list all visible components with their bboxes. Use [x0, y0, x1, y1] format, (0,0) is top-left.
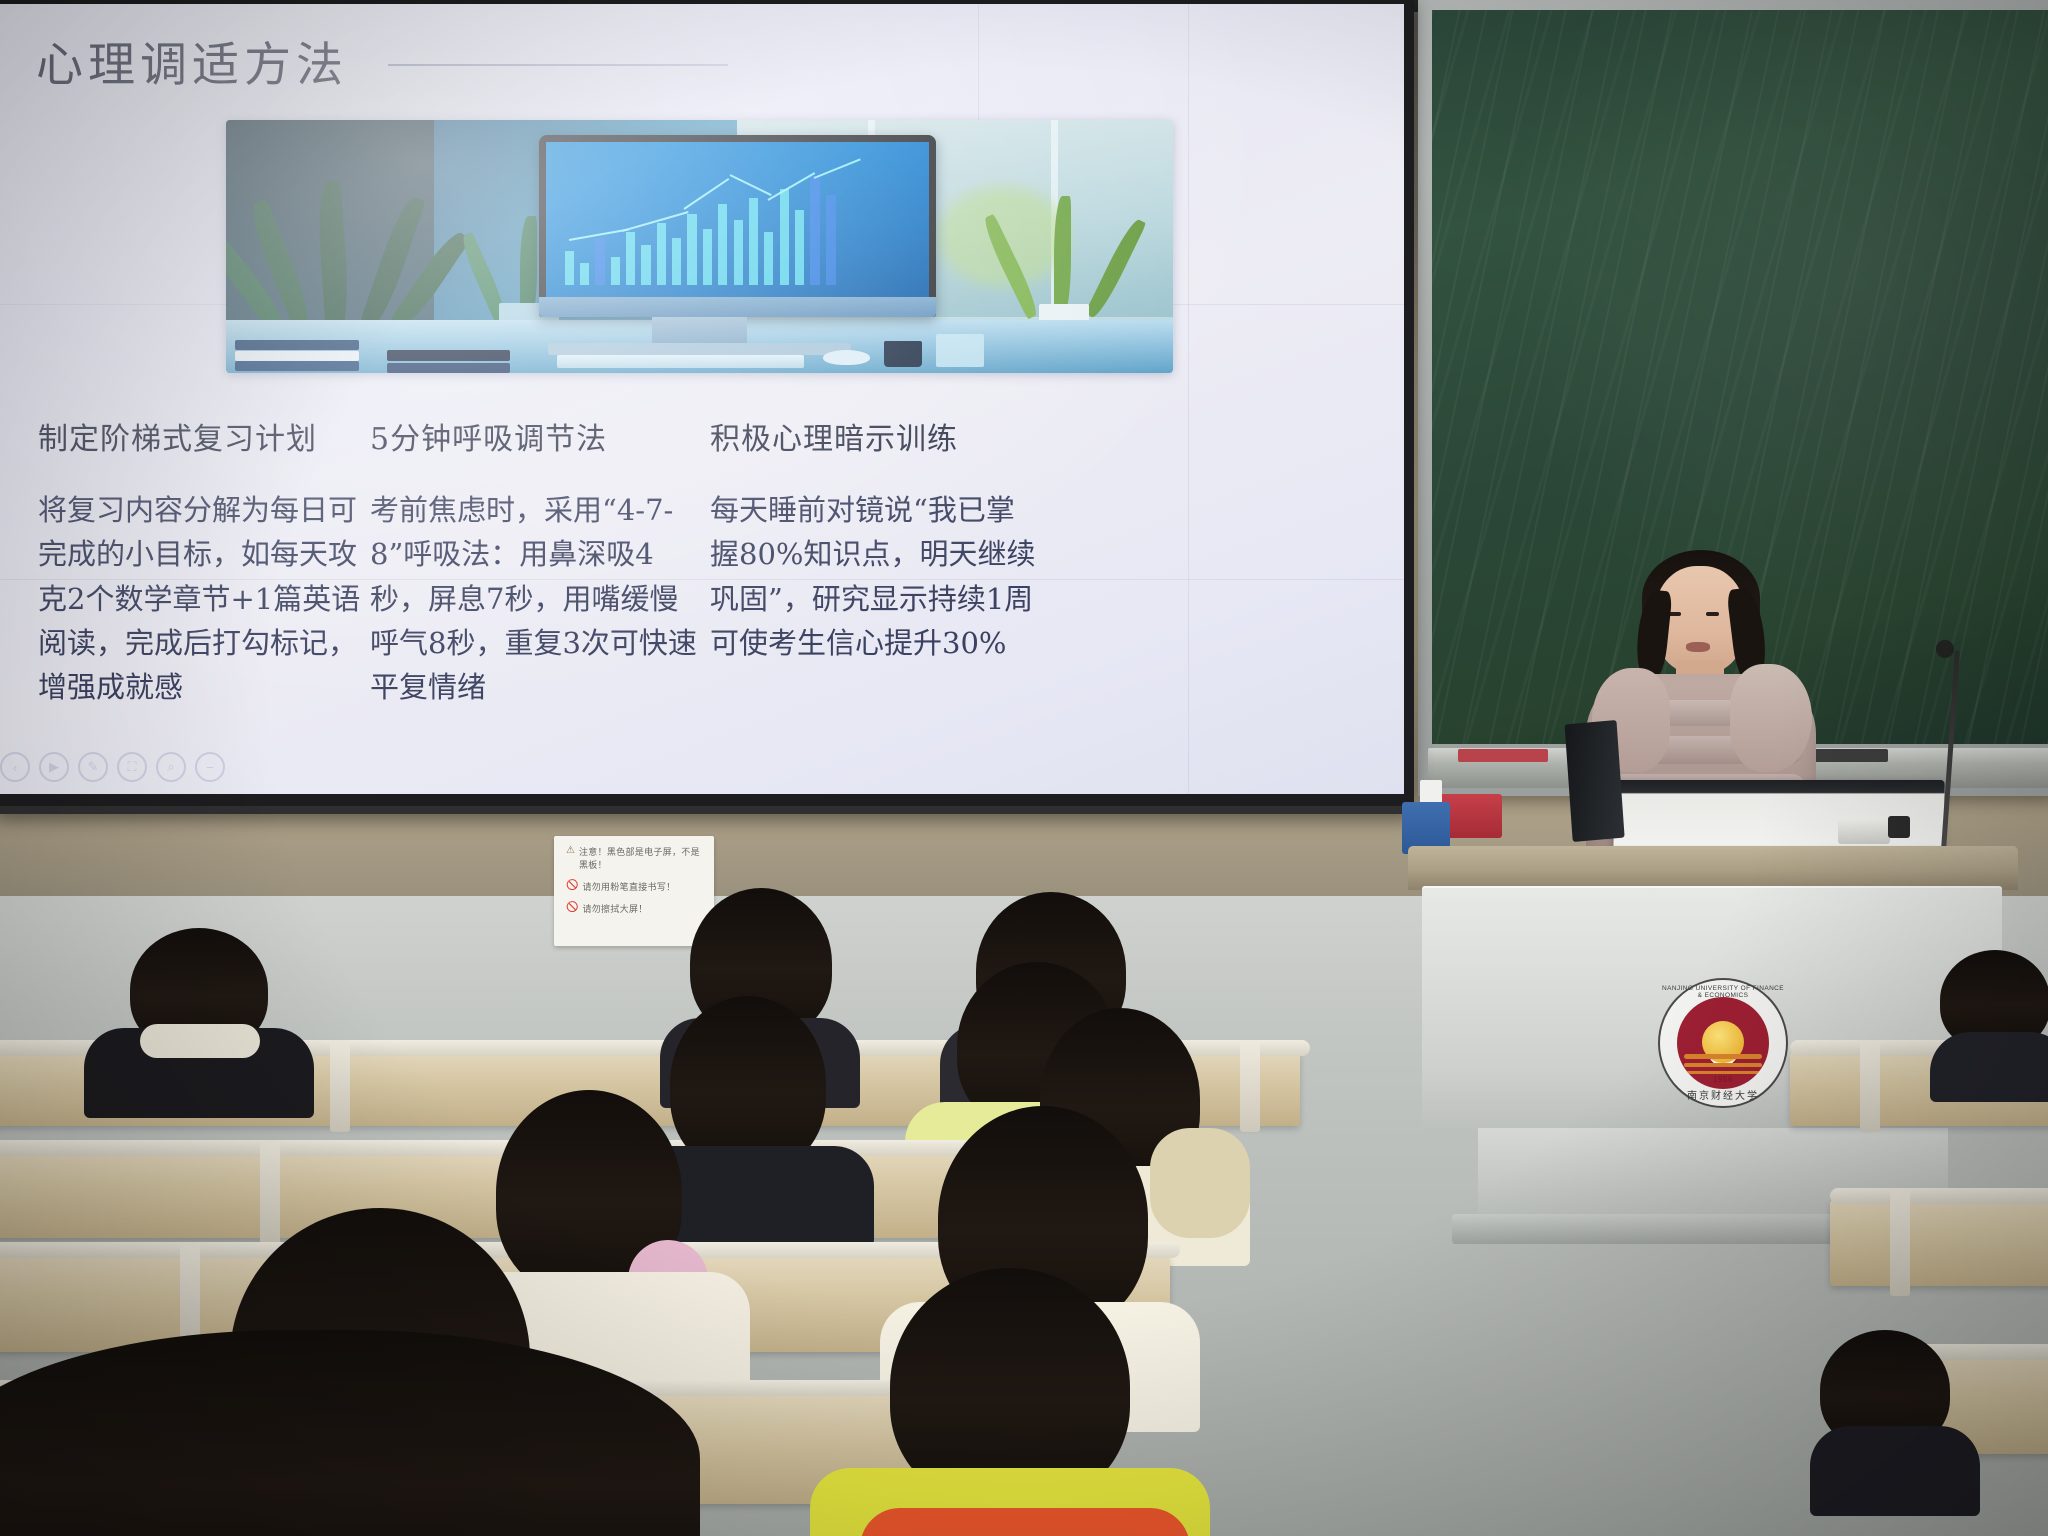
slide-column-3: 积极心理暗示训练 每天睡前对镜说“我已掌握80%知识点，明天继续巩固”，研究显示… [710, 414, 1040, 665]
photo-imac [539, 135, 937, 317]
slide-photo [226, 120, 1173, 373]
previous-icon[interactable]: ‹ [0, 752, 30, 782]
slide-toolbar[interactable]: ‹ ▶ ✎ ⛶ ⌕ − [0, 752, 225, 782]
photo-imac-screen [546, 142, 930, 297]
slide-column-1: 制定阶梯式复习计划 将复习内容分解为每日可完成的小目标，如每天攻克2个数学章节+… [38, 414, 368, 710]
prohibited-icon: 🚫 [566, 881, 578, 891]
chalk-red [1458, 749, 1548, 762]
zoom-icon[interactable]: ⌕ [156, 752, 186, 782]
photo-books [235, 340, 358, 370]
title-underline [388, 64, 728, 66]
bench-rail-right-2 [1830, 1188, 2048, 1204]
column-1-body: 将复习内容分解为每日可完成的小目标，如每天攻克2个数学章节+1篇英语阅读，完成后… [38, 488, 368, 710]
laptop [1613, 780, 1944, 850]
sign-line-1: ⚠ 注意！黑色部是电子屏，不是黑板！ [566, 846, 702, 872]
audience-person-right [1930, 950, 2048, 1080]
photo-mug [884, 341, 922, 366]
minimize-icon[interactable]: − [195, 752, 225, 782]
crest-ring-text-cn: 南京财经大学 [1660, 1087, 1786, 1102]
small-black-object [1888, 816, 1910, 838]
laptop-lid [1565, 720, 1625, 842]
photo-mouse [823, 350, 870, 365]
bench-post [1890, 1188, 1910, 1296]
presenter-hood-right [1730, 664, 1812, 772]
lectern-top [1408, 846, 2018, 890]
audience-person [830, 1268, 1190, 1536]
crest-year: 1956 [1677, 1075, 1769, 1084]
projection-screen-frame: 心理调适方法 [0, 0, 1414, 814]
slide-title: 心理调适方法 [36, 26, 348, 95]
photo-plant-right [1003, 196, 1126, 328]
bench-post [330, 1040, 350, 1132]
bench-post [1860, 1040, 1880, 1132]
column-2-body: 考前焦虑时，采用“4-7-8”呼吸法：用鼻深吸4秒，屏息7秒，用嘴缓慢呼气8秒，… [370, 488, 700, 710]
slide-column-2: 5分钟呼吸调节法 考前焦虑时，采用“4-7-8”呼吸法：用鼻深吸4秒，屏息7秒，… [370, 414, 700, 710]
photo-imac-chin [539, 297, 937, 317]
photo-books-2 [387, 350, 510, 373]
photo-imac-foot [548, 343, 851, 356]
sign-text-1: 注意！黑色部是电子屏，不是黑板！ [579, 846, 702, 872]
warning-icon: ⚠ [566, 846, 575, 856]
lecture-hall-photo: 心理调适方法 [0, 0, 2048, 1536]
university-crest: NANJING UNIVERSITY OF FINANCE & ECONOMIC… [1658, 978, 1788, 1108]
column-2-heading: 5分钟呼吸调节法 [370, 414, 700, 458]
prohibited-icon: 🚫 [566, 903, 578, 913]
pen-icon[interactable]: ✎ [78, 752, 108, 782]
presenter-mouth [1686, 642, 1710, 652]
presentation-slide[interactable]: 心理调适方法 [0, 4, 1404, 794]
bench-row-right-2 [1830, 1200, 2048, 1286]
remote-device [1838, 818, 1890, 844]
column-1-heading: 制定阶梯式复习计划 [38, 414, 368, 458]
photo-keyboard [557, 355, 803, 368]
photo-glass [936, 334, 983, 367]
audience-person-foreground [0, 1330, 700, 1536]
audience-person-right [1810, 1330, 1970, 1490]
sign-text-3: 请勿擦拭大屏！ [582, 903, 647, 916]
slide-decor-line [1188, 4, 1189, 794]
microphone-head [1936, 640, 1954, 658]
photo-plant-left [254, 181, 434, 333]
screenshot-icon[interactable]: ⛶ [117, 752, 147, 782]
crest-inner: 1956 [1677, 997, 1769, 1089]
audience-person [84, 928, 314, 1088]
column-3-body: 每天睡前对镜说“我已掌握80%知识点，明天继续巩固”，研究显示持续1周可使考生信… [710, 488, 1040, 665]
presenter-eye-right [1706, 612, 1719, 616]
column-3-heading: 积极心理暗示训练 [710, 414, 1040, 458]
play-icon[interactable]: ▶ [39, 752, 69, 782]
